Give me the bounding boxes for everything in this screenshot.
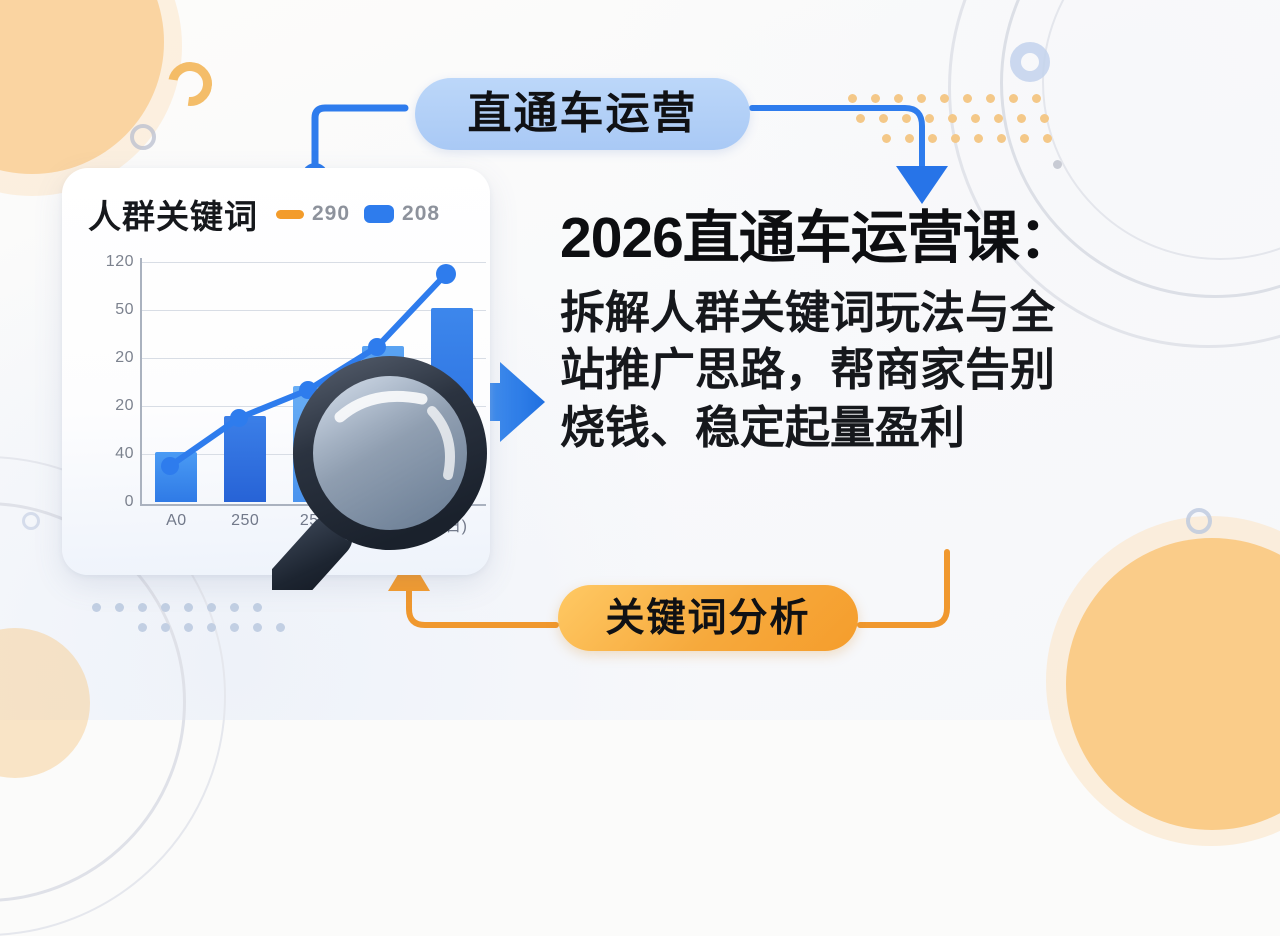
- headline-body: 拆解人群关键词玩法与全 站推广思路，帮商家告别 烧钱、稳定起量盈利: [560, 284, 1250, 457]
- chart-line-marker: [230, 409, 248, 427]
- headline-block: 2026直通车运营课： 拆解人群关键词玩法与全 站推广思路，帮商家告别 烧钱、稳…: [560, 208, 1250, 456]
- headline-body-line: 拆解人群关键词玩法与全: [560, 284, 1250, 342]
- badge-top-label: 直通车运营: [468, 92, 698, 136]
- y-tick-label: 50: [115, 301, 134, 319]
- y-tick-label: 120: [106, 253, 134, 271]
- headline-title: 2026直通车运营课：: [560, 208, 1250, 270]
- badge-bottom-label: 关键词分析: [605, 599, 810, 638]
- legend-bar-swatch-icon: [364, 205, 394, 223]
- connector-bottom-right-orange: [860, 552, 947, 625]
- headline-body-line: 烧钱、稳定起量盈利: [560, 399, 1250, 457]
- y-tick-label: 20: [115, 349, 134, 367]
- poster-canvas: 直通车运营 人群关键词 290 208 120 50 20 20: [0, 0, 1280, 720]
- x-tick-label: 250: [215, 512, 275, 536]
- chart-card-header: 人群关键词 290 208: [88, 190, 474, 238]
- y-tick-label: 40: [115, 445, 134, 463]
- chart-card-title: 人群关键词: [88, 190, 258, 238]
- headline-body-line: 站推广思路，帮商家告别: [560, 341, 1250, 399]
- chart-legend: 290 208: [276, 202, 440, 226]
- legend-line-swatch-icon: [276, 210, 304, 219]
- y-tick-label: 0: [125, 493, 134, 511]
- chart-line-marker: [161, 457, 179, 475]
- legend-item-line: 290: [276, 202, 350, 226]
- y-tick-label: 20: [115, 397, 134, 415]
- legend-item-bar: 208: [364, 202, 440, 226]
- legend-label-bar: 208: [402, 202, 440, 226]
- chart-line-marker: [436, 264, 456, 284]
- x-tick-label: A0: [146, 512, 206, 536]
- chart-y-axis-labels: 120 50 20 20 40 0: [96, 262, 138, 502]
- magnifier-icon: [272, 345, 542, 590]
- connector-right-elbow-arrow: [752, 108, 948, 204]
- badge-top-operations[interactable]: 直通车运营: [415, 78, 750, 150]
- legend-label-line: 290: [312, 202, 350, 226]
- badge-bottom-keyword-analysis[interactable]: 关键词分析: [558, 585, 858, 651]
